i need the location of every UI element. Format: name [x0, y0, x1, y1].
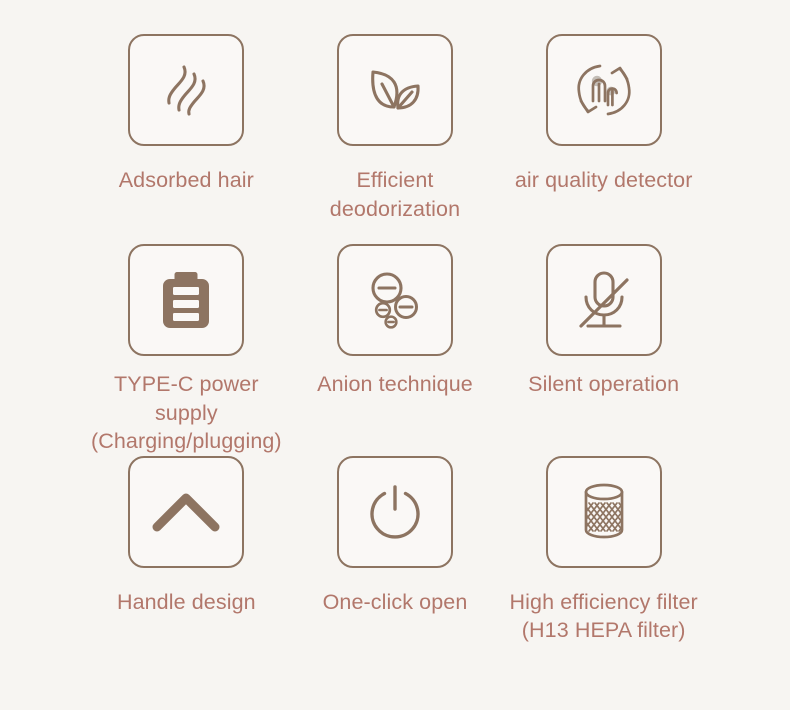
feature-grid: Adsorbed hair Efficient deodorization	[0, 0, 790, 710]
icon-box-silent-operation	[546, 244, 662, 356]
feature-item-efficient-deodorization[interactable]: Efficient deodorization	[291, 34, 500, 244]
icon-box-efficient-deodorization	[337, 34, 453, 146]
feature-label: Anion technique	[317, 370, 473, 399]
anion-particles-icon	[364, 269, 426, 331]
air-cycle-sensor-icon	[572, 58, 636, 122]
feature-label: TYPE-C power supply (Charging/plugging)	[82, 370, 291, 455]
feature-label: Efficient deodorization	[291, 166, 500, 223]
feature-label: air quality detector	[515, 166, 693, 195]
icon-box-handle-design	[128, 456, 244, 568]
icon-box-adsorbed-hair	[128, 34, 244, 146]
feature-item-high-efficiency-filter[interactable]: High efficiency filter (H13 HEPA filter)	[499, 456, 708, 666]
icon-box-one-click-open	[337, 456, 453, 568]
feature-label: Handle design	[117, 588, 256, 617]
feature-item-one-click-open[interactable]: One-click open	[291, 456, 500, 666]
hepa-filter-cylinder-icon	[575, 481, 633, 543]
microphone-muted-icon	[573, 268, 635, 332]
feature-item-adsorbed-hair[interactable]: Adsorbed hair	[82, 34, 291, 244]
icon-box-air-quality-detector	[546, 34, 662, 146]
feature-item-silent-operation[interactable]: Silent operation	[499, 244, 708, 455]
chevron-up-icon	[151, 488, 221, 536]
battery-icon	[156, 268, 216, 332]
power-icon	[365, 482, 425, 542]
air-waves-icon	[154, 58, 218, 122]
feature-label: One-click open	[323, 588, 468, 617]
leaves-icon	[363, 58, 427, 122]
feature-item-handle-design[interactable]: Handle design	[82, 456, 291, 666]
feature-item-air-quality-detector[interactable]: air quality detector	[499, 34, 708, 244]
icon-box-type-c-power-supply	[128, 244, 244, 356]
icon-box-anion-technique	[337, 244, 453, 356]
feature-item-type-c-power-supply[interactable]: TYPE-C power supply (Charging/plugging)	[82, 244, 291, 455]
feature-label: Adsorbed hair	[119, 166, 254, 195]
icon-box-high-efficiency-filter	[546, 456, 662, 568]
feature-label: High efficiency filter (H13 HEPA filter)	[510, 588, 698, 645]
feature-item-anion-technique[interactable]: Anion technique	[291, 244, 500, 455]
feature-label: Silent operation	[528, 370, 679, 399]
